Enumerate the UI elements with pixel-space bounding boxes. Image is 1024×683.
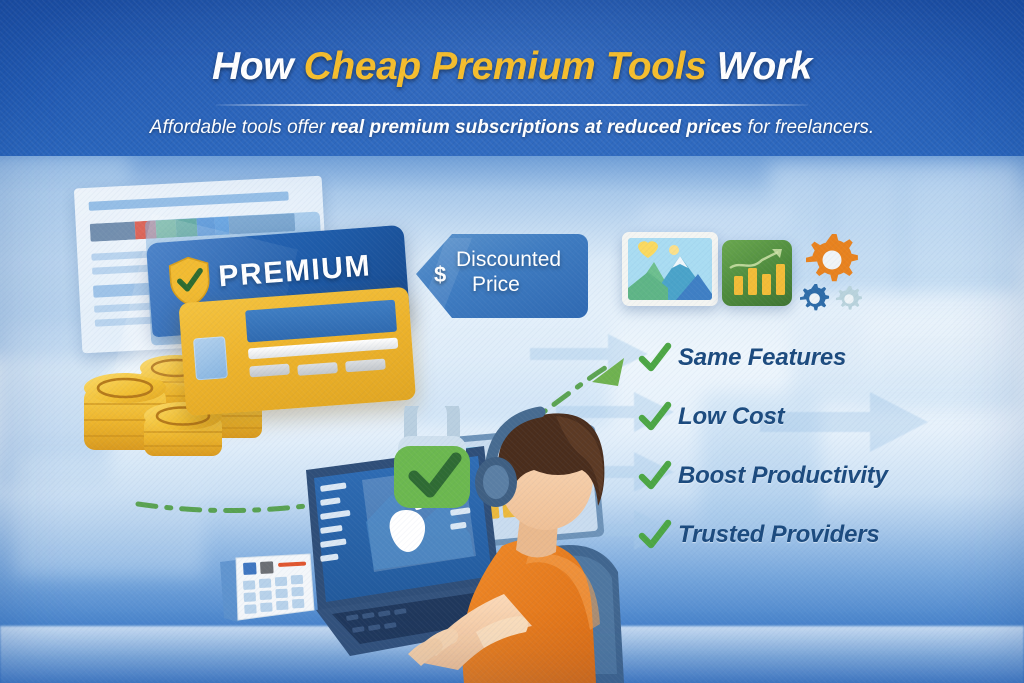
check-icon — [638, 341, 672, 375]
freelancer-at-laptop — [288, 406, 648, 683]
price-tag-line2: Price — [456, 273, 588, 298]
bar-chart-glyph — [722, 240, 792, 306]
benefits-checklist: Same Features Low Cost Boost Productivit… — [638, 328, 938, 564]
title-part-1: How — [212, 45, 304, 88]
checklist-item-label: Boost Productivity — [678, 462, 888, 490]
gear-icon — [800, 284, 829, 310]
list-item: Same Features — [638, 328, 938, 387]
checklist-item-label: Same Features — [678, 344, 846, 372]
shield-check-icon — [167, 255, 213, 308]
padlock-check-icon — [394, 406, 470, 508]
check-icon — [638, 518, 672, 552]
bar-chart-icon — [722, 240, 792, 306]
card-number-block — [249, 364, 290, 378]
currency-symbol: $ — [434, 262, 446, 288]
subtitle-emphasis: real premium subscriptions at reduced pr… — [330, 117, 742, 138]
title-part-2: Work — [706, 45, 812, 88]
card-magnetic-stripe — [245, 300, 397, 343]
price-tag-text: Discounted Price — [456, 248, 588, 298]
infographic-canvas: How Cheap Premium Tools Work Affordable … — [0, 0, 1024, 683]
subtitle-post: for freelancers. — [742, 117, 874, 138]
page-subtitle: Affordable tools offer real premium subs… — [0, 117, 1024, 139]
title-divider — [216, 104, 808, 106]
premium-card-body — [178, 287, 416, 417]
subtitle-pre: Affordable tools offer — [150, 117, 331, 138]
document-title-bar — [89, 191, 289, 210]
checklist-item-label: Trusted Providers — [678, 521, 880, 549]
page-title: How Cheap Premium Tools Work — [0, 47, 1024, 86]
card-number-block — [297, 362, 338, 376]
gears-cluster — [798, 232, 874, 314]
price-tag-line1: Discounted — [456, 248, 561, 271]
gear-icon — [806, 234, 858, 281]
gear-icon — [836, 286, 862, 310]
illustration-scene: PREMIUM — [0, 156, 1024, 683]
checklist-item-label: Low Cost — [678, 403, 784, 431]
photo-image-icon — [622, 232, 718, 306]
list-item: Low Cost — [638, 387, 938, 446]
premium-card: PREMIUM — [146, 225, 416, 418]
list-item: Boost Productivity — [638, 446, 938, 505]
check-icon — [638, 459, 672, 493]
check-icon — [638, 400, 672, 434]
photo-image-canvas — [628, 238, 712, 300]
app-icon-cluster — [622, 228, 872, 323]
background-window-mullion — [900, 170, 904, 294]
photo-scene-icon — [628, 238, 712, 300]
card-chip — [193, 336, 228, 380]
card-number-block — [345, 358, 386, 372]
title-accent: Cheap Premium Tools — [304, 45, 707, 88]
list-item: Trusted Providers — [638, 505, 938, 564]
discounted-price-tag: $ Discounted Price — [412, 228, 592, 324]
